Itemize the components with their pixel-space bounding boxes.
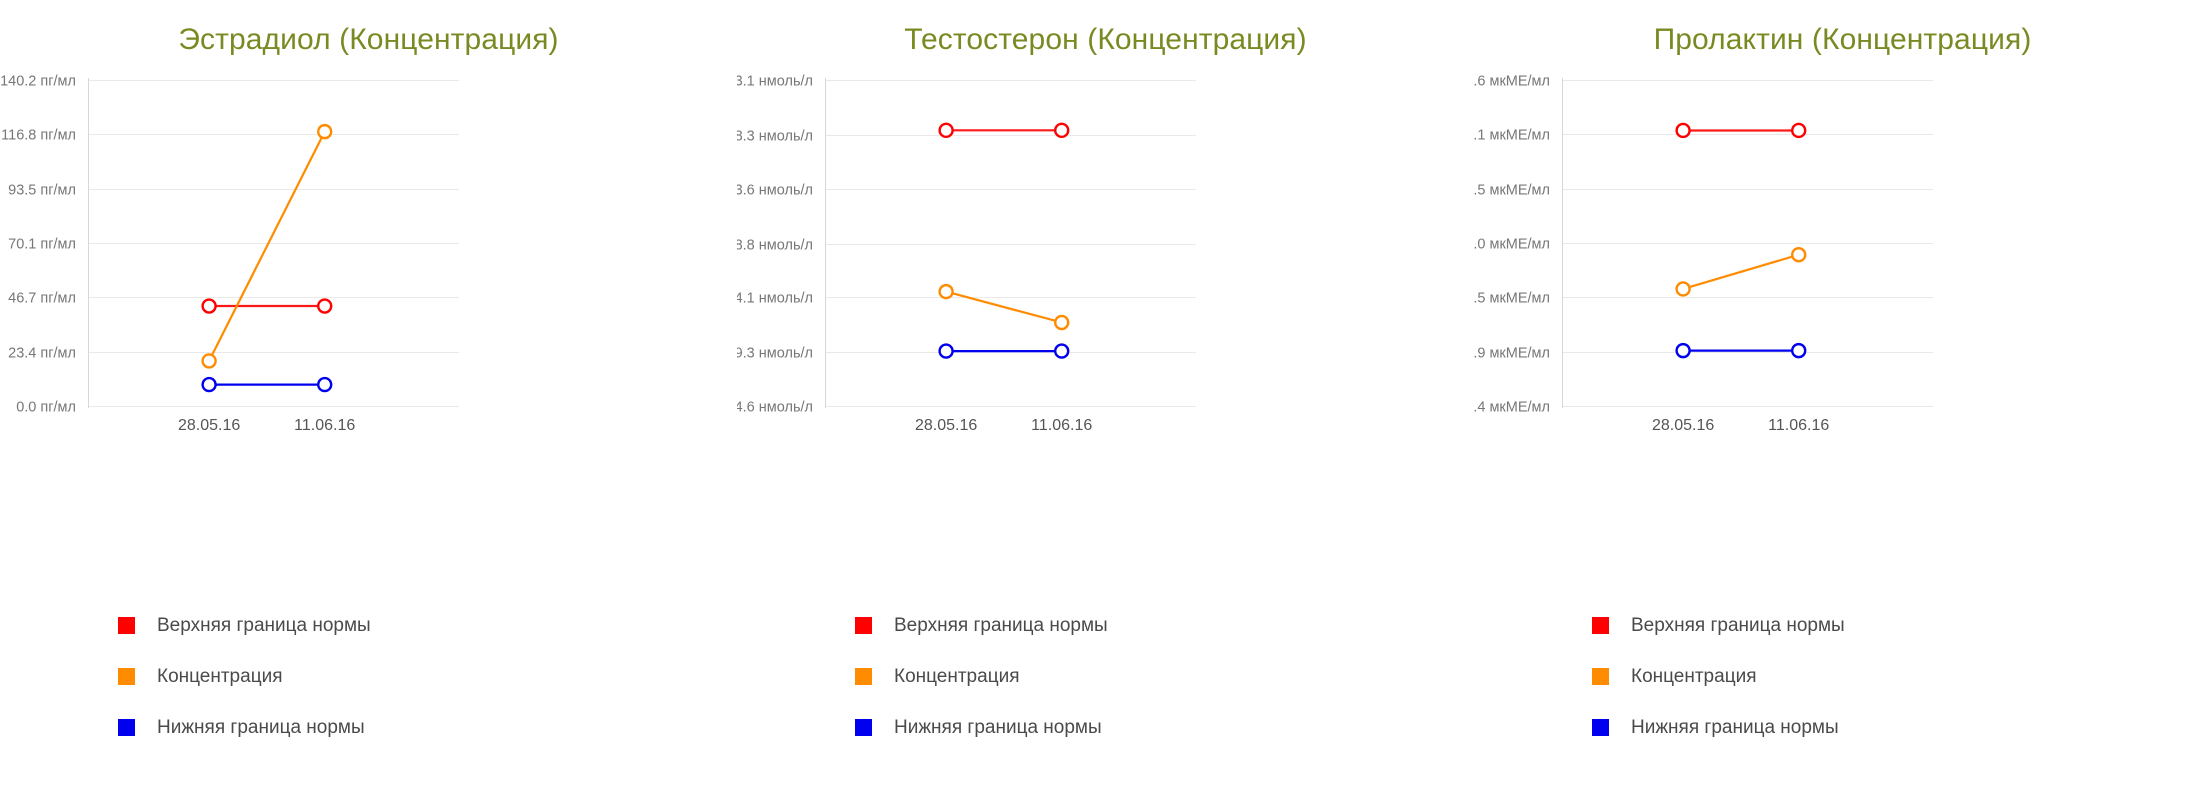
y-axis-tick-label: 23.4 пг/мл — [8, 346, 76, 362]
legend-label-lower: Нижняя граница нормы — [1631, 718, 1839, 737]
y-axis-gridlines: 4.6 нмоль/л9.3 нмоль/л14.1 нмоль/л18.8 н… — [737, 74, 1196, 416]
data-point-marker[interactable] — [203, 300, 216, 313]
legend-swatch-upper — [1592, 617, 1609, 634]
legend-label-upper: Верхняя граница нормы — [894, 616, 1108, 635]
y-axis-tick-label: 14.1 нмоль/л — [737, 291, 813, 307]
y-axis-tick-label: 149.5 мкМЕ/мл — [1474, 291, 1550, 307]
data-point-marker[interactable] — [1792, 248, 1805, 261]
legend-swatch-value — [118, 668, 135, 685]
chart-panel-prolactin: Пролактин (Концентрация)38.4 мкМЕ/мл93.9… — [1474, 0, 2211, 800]
data-point-marker[interactable] — [1055, 124, 1068, 137]
y-axis-tick-label: 316.1 мкМЕ/мл — [1474, 128, 1550, 144]
y-axis-tick-label: 140.2 пг/мл — [0, 74, 76, 90]
series-concentration — [203, 125, 332, 367]
chart-title-testosterone: Тестостерон (Концентрация) — [737, 0, 1474, 58]
y-axis-tick-label: 23.6 нмоль/л — [737, 183, 813, 199]
data-point-marker[interactable] — [318, 125, 331, 138]
legend-swatch-value — [1592, 668, 1609, 685]
x-axis-tick-label: 11.06.16 — [294, 417, 355, 434]
legend-swatch-lower — [1592, 719, 1609, 736]
x-axis-tick-label: 28.05.16 — [1652, 417, 1714, 434]
chart-panel-estradiol: Эстрадиол (Концентрация)0.0 пг/мл23.4 пг… — [0, 0, 737, 800]
y-axis-tick-label: 93.9 мкМЕ/мл — [1474, 346, 1550, 362]
legend-swatch-upper — [118, 617, 135, 634]
y-axis-tick-label: 18.8 нмоль/л — [737, 238, 813, 254]
legend-swatch-upper — [855, 617, 872, 634]
chart-title-estradiol: Эстрадиол (Концентрация) — [0, 0, 737, 58]
plot-area-prolactin: 38.4 мкМЕ/мл93.9 мкМЕ/мл149.5 мкМЕ/мл205… — [1474, 58, 2211, 578]
series-upper-limit — [940, 124, 1069, 137]
chart-title-prolactin: Пролактин (Концентрация) — [1474, 0, 2211, 58]
x-axis-labels: 28.05.1611.06.16 — [915, 417, 1092, 434]
series-upper-limit — [203, 300, 332, 313]
y-axis-tick-label: 38.4 мкМЕ/мл — [1474, 400, 1550, 416]
y-axis-tick-label: 28.3 нмоль/л — [737, 129, 813, 145]
series-upper-limit — [1677, 124, 1806, 137]
data-point-marker[interactable] — [940, 285, 953, 298]
data-point-marker[interactable] — [203, 354, 216, 367]
y-axis-tick-label: 93.5 пг/мл — [8, 183, 76, 199]
legend-label-value: Концентрация — [894, 667, 1019, 686]
series-lower-limit — [1677, 344, 1806, 357]
x-axis-tick-label: 11.06.16 — [1768, 417, 1829, 434]
legend-label-lower: Нижняя граница нормы — [157, 718, 365, 737]
legend-swatch-value — [855, 668, 872, 685]
data-point-marker[interactable] — [1792, 124, 1805, 137]
legend-label-upper: Верхняя граница нормы — [1631, 616, 1845, 635]
data-point-marker[interactable] — [318, 300, 331, 313]
y-axis-tick-label: 260.5 мкМЕ/мл — [1474, 183, 1550, 199]
x-axis-tick-label: 28.05.16 — [178, 417, 240, 434]
legend-swatch-lower — [118, 719, 135, 736]
plot-area-estradiol: 0.0 пг/мл23.4 пг/мл46.7 пг/мл70.1 пг/мл9… — [0, 58, 737, 578]
legend-item-upper[interactable]: Верхняя граница нормы — [1592, 600, 2212, 651]
y-axis-gridlines: 38.4 мкМЕ/мл93.9 мкМЕ/мл149.5 мкМЕ/мл205… — [1474, 74, 1933, 416]
y-axis-tick-label: 205.0 мкМЕ/мл — [1474, 237, 1550, 253]
data-point-marker[interactable] — [203, 378, 216, 391]
legend-swatch-lower — [855, 719, 872, 736]
y-axis-tick-label: 0.0 пг/мл — [16, 400, 76, 416]
y-axis-tick-label: 46.7 пг/мл — [8, 291, 76, 307]
series-lower-limit — [203, 378, 332, 391]
y-axis-tick-label: 9.3 нмоль/л — [737, 346, 813, 362]
plot-area-testosterone: 4.6 нмоль/л9.3 нмоль/л14.1 нмоль/л18.8 н… — [737, 58, 1474, 578]
data-point-marker[interactable] — [1792, 344, 1805, 357]
data-point-marker[interactable] — [940, 124, 953, 137]
charts-container: Эстрадиол (Концентрация)0.0 пг/мл23.4 пг… — [0, 0, 2212, 800]
series-concentration — [1677, 248, 1806, 295]
chart-panel-testosterone: Тестостерон (Концентрация)4.6 нмоль/л9.3… — [737, 0, 1474, 800]
x-axis-tick-label: 28.05.16 — [915, 417, 977, 434]
x-axis-tick-label: 11.06.16 — [1031, 417, 1092, 434]
y-axis-gridlines: 0.0 пг/мл23.4 пг/мл46.7 пг/мл70.1 пг/мл9… — [0, 74, 459, 416]
legend-item-value[interactable]: Концентрация — [1592, 651, 2212, 702]
data-point-marker[interactable] — [1055, 345, 1068, 358]
chart-legend-prolactin: Верхняя граница нормыКонцентрацияНижняя … — [1592, 600, 2212, 753]
legend-label-value: Концентрация — [1631, 667, 1756, 686]
data-point-marker[interactable] — [1677, 282, 1690, 295]
legend-label-upper: Верхняя граница нормы — [157, 616, 371, 635]
data-point-marker[interactable] — [1677, 124, 1690, 137]
data-point-marker[interactable] — [1055, 316, 1068, 329]
y-axis-tick-label: 33.1 нмоль/л — [737, 74, 813, 90]
x-axis-labels: 28.05.1611.06.16 — [178, 417, 355, 434]
data-point-marker[interactable] — [318, 378, 331, 391]
series-lower-limit — [940, 345, 1069, 358]
data-point-marker[interactable] — [1677, 344, 1690, 357]
y-axis-tick-label: 4.6 нмоль/л — [737, 400, 813, 416]
data-point-marker[interactable] — [940, 345, 953, 358]
y-axis-tick-label: 70.1 пг/мл — [8, 237, 76, 253]
y-axis-tick-label: 116.8 пг/мл — [1, 128, 76, 144]
series-concentration — [940, 285, 1069, 329]
legend-label-lower: Нижняя граница нормы — [894, 718, 1102, 737]
y-axis-tick-label: 371.6 мкМЕ/мл — [1474, 74, 1550, 90]
legend-label-value: Концентрация — [157, 667, 282, 686]
x-axis-labels: 28.05.1611.06.16 — [1652, 417, 1829, 434]
legend-item-lower[interactable]: Нижняя граница нормы — [1592, 702, 2212, 753]
